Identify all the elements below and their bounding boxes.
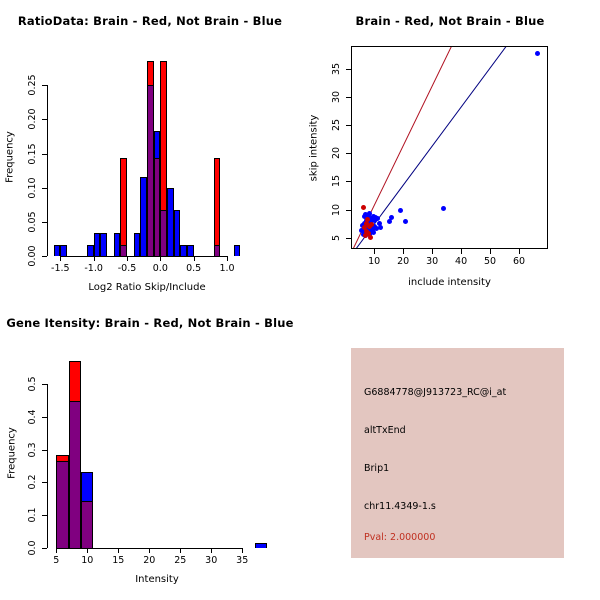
ratio-hist-bar-notbrain — [167, 188, 174, 256]
ratio-hist-bar-notbrain — [54, 245, 61, 256]
gene-hist-yaxis — [47, 384, 48, 548]
scatter-yticklabel: 35 — [331, 63, 342, 75]
scatter-plot-area — [352, 47, 547, 248]
scatter-xticklabel: 50 — [476, 256, 504, 267]
gene-hist-ytick — [42, 417, 47, 418]
ratio-hist-ytick — [42, 85, 47, 86]
scatter-xticklabel: 10 — [360, 256, 388, 267]
scatter-xlabel: include intensity — [351, 277, 548, 288]
scatter-yticklabel: 10 — [331, 203, 342, 215]
ratio-hist-ytick — [42, 222, 47, 223]
gene-hist-xticklabel: 25 — [166, 555, 194, 566]
scatter-title: Brain - Red, Not Brain - Blue — [300, 14, 600, 28]
ratio-hist-bar-brain — [120, 158, 127, 256]
scatter-yticklabel: 25 — [331, 119, 342, 131]
scatter-yticklabel: 15 — [331, 175, 342, 187]
ratio-hist-yticklabel: 0.20 — [27, 109, 38, 130]
scatter-ytick — [346, 97, 351, 98]
gene-hist-yticklabel: 0.2 — [27, 475, 38, 490]
ratio-hist-yticklabel: 0.10 — [27, 177, 38, 198]
scatter-ytick — [346, 181, 351, 182]
panel-intensity-scatter: Brain - Red, Not Brain - Blue10203040506… — [300, 0, 600, 300]
scatter-point-notbrain — [535, 51, 540, 56]
ratio-hist-bar-notbrain — [234, 245, 241, 256]
gene-hist-ylabel: Frequency — [7, 427, 18, 479]
panel-ratio-histogram: RatioData: Brain - Red, Not Brain - Blue… — [0, 0, 300, 300]
scatter-point-brain — [361, 205, 366, 210]
gene-hist-xtick — [149, 548, 150, 553]
ratio-hist-xticklabel: 0.0 — [146, 263, 174, 274]
scatter-xticklabel: 60 — [505, 256, 533, 267]
gene-hist-xtick — [118, 548, 119, 553]
ratio-hist-xtick — [127, 256, 128, 261]
ratio-hist-yticklabel: 0.25 — [27, 75, 38, 96]
scatter-ytick — [346, 238, 351, 239]
ratio-hist-yaxis — [47, 85, 48, 256]
gene-hist-bar-overlap — [56, 461, 68, 548]
gene-hist-bar-overlap — [81, 501, 93, 548]
gene-hist-ytick — [42, 515, 47, 516]
gene-hist-ytick — [42, 548, 47, 549]
gene-hist-xtick — [242, 548, 243, 553]
scatter-xtick — [374, 249, 375, 254]
ratio-hist-xtick — [194, 256, 195, 261]
scatter-xtick — [519, 249, 520, 254]
gene-hist-xlabel: Intensity — [47, 574, 267, 585]
scatter-yticklabel: 20 — [331, 147, 342, 159]
gene-hist-bar-overlap — [69, 401, 81, 548]
ratio-hist-xticklabel: -1.0 — [80, 263, 108, 274]
ratio-hist-xtick — [160, 256, 161, 261]
gene-hist-yticklabel: 0.1 — [27, 508, 38, 523]
scatter-ytick — [346, 210, 351, 211]
gene-hist-xtick — [180, 548, 181, 553]
gene-info-background — [351, 348, 564, 558]
ratio-hist-xlabel: Log2 Ratio Skip/Include — [47, 282, 247, 293]
gene-hist-ytick — [42, 450, 47, 451]
ratio-hist-bar-overlap — [120, 245, 127, 256]
scatter-ytick — [346, 125, 351, 126]
panel-gene-info: G6884778@J913723_RC@i_ataltTxEndBrip1chr… — [300, 300, 600, 600]
ratio-hist-ytick — [42, 154, 47, 155]
scatter-yticklabel: 30 — [331, 91, 342, 103]
ratio-hist-xticklabel: 0.5 — [180, 263, 208, 274]
panel-gene-histogram: Gene Itensity: Brain - Red, Not Brain - … — [0, 300, 300, 600]
scatter-yticklabel: 5 — [331, 235, 342, 241]
gene-hist-ytick — [42, 384, 47, 385]
scatter-point-notbrain — [378, 225, 383, 230]
gene-hist-xtick — [56, 548, 57, 553]
ratio-hist-bar-notbrain — [140, 177, 147, 256]
gene-hist-xtick — [87, 548, 88, 553]
ratio-hist-yticklabel: 0.15 — [27, 143, 38, 164]
ratio-hist-bar-overlap — [214, 245, 221, 256]
ratio-hist-xtick — [94, 256, 95, 261]
scatter-point-notbrain — [441, 206, 446, 211]
scatter-point-brain — [369, 222, 374, 227]
ratio-hist-bar-notbrain — [60, 245, 67, 256]
gene-hist-xticklabel: 30 — [197, 555, 225, 566]
ratio-hist-xticklabel: -1.5 — [46, 263, 74, 274]
scatter-xticklabel: 30 — [418, 256, 446, 267]
gene-hist-xtick — [211, 548, 212, 553]
ratio-hist-bar-overlap — [154, 158, 161, 256]
gene-hist-xticklabel: 5 — [42, 555, 70, 566]
ratio-hist-xaxis — [60, 256, 227, 257]
ratio-hist-ytick — [42, 119, 47, 120]
scatter-point-notbrain — [403, 219, 408, 224]
ratio-hist-xtick — [60, 256, 61, 261]
scatter-xtick — [403, 249, 404, 254]
ratio-hist-ylabel: Frequency — [5, 131, 16, 183]
scatter-point-notbrain — [389, 215, 394, 220]
ratio-hist-bar-notbrain — [174, 210, 181, 256]
ratio-hist-bar-overlap — [147, 85, 154, 256]
gene-hist-xticklabel: 35 — [228, 555, 256, 566]
ratio-hist-bar-notbrain — [94, 233, 101, 256]
scatter-xtick — [461, 249, 462, 254]
info-pval: Pval: 2.000000 — [364, 532, 435, 543]
ratio-hist-bar-notbrain — [134, 233, 141, 256]
ratio-hist-bar-notbrain — [100, 233, 107, 256]
gene-hist-title: Gene Itensity: Brain - Red, Not Brain - … — [0, 316, 300, 330]
ratio-hist-bar-notbrain — [180, 245, 187, 256]
scatter-ylabel: skip intensity — [309, 114, 320, 181]
ratio-hist-title: RatioData: Brain - Red, Not Brain - Blue — [0, 14, 300, 28]
scatter-xticklabel: 20 — [389, 256, 417, 267]
ratio-hist-yticklabel: 0.00 — [27, 245, 38, 266]
gene-hist-xticklabel: 15 — [104, 555, 132, 566]
ratio-hist-ytick — [42, 188, 47, 189]
scatter-xticklabel: 40 — [447, 256, 475, 267]
gene-hist-ytick — [42, 482, 47, 483]
scatter-xtick — [432, 249, 433, 254]
ratio-hist-bar-brain — [214, 158, 221, 256]
gene-hist-bar-notbrain — [255, 543, 267, 548]
gene-hist-yticklabel: 0.0 — [27, 540, 38, 555]
ratio-hist-bar-notbrain — [187, 245, 194, 256]
gene-hist-yticklabel: 0.4 — [27, 409, 38, 424]
scatter-point-notbrain — [398, 208, 403, 213]
scatter-point-notbrain — [387, 219, 392, 224]
gene-hist-yticklabel: 0.3 — [27, 442, 38, 457]
gene-hist-xticklabel: 20 — [135, 555, 163, 566]
ratio-hist-bar-overlap — [160, 210, 167, 256]
info-locus: chr11.4349-1.s — [364, 501, 436, 512]
ratio-hist-bar-notbrain — [87, 245, 94, 256]
info-gene-symbol: Brip1 — [364, 463, 389, 474]
scatter-xtick — [490, 249, 491, 254]
gene-hist-yticklabel: 0.5 — [27, 377, 38, 392]
figure-canvas: RatioData: Brain - Red, Not Brain - Blue… — [0, 0, 600, 600]
gene-hist-xticklabel: 10 — [73, 555, 101, 566]
scatter-ytick — [346, 69, 351, 70]
ratio-hist-xticklabel: 1.0 — [213, 263, 241, 274]
scatter-ytick — [346, 153, 351, 154]
ratio-hist-xtick — [227, 256, 228, 261]
scatter-point-brain — [368, 235, 373, 240]
ratio-hist-bar-notbrain — [114, 233, 121, 256]
ratio-hist-yticklabel: 0.05 — [27, 211, 38, 232]
info-event-type: altTxEnd — [364, 425, 406, 436]
info-probe-id: G6884778@J913723_RC@i_at — [364, 387, 506, 398]
ratio-hist-ytick — [42, 256, 47, 257]
ratio-hist-xticklabel: -0.5 — [113, 263, 141, 274]
